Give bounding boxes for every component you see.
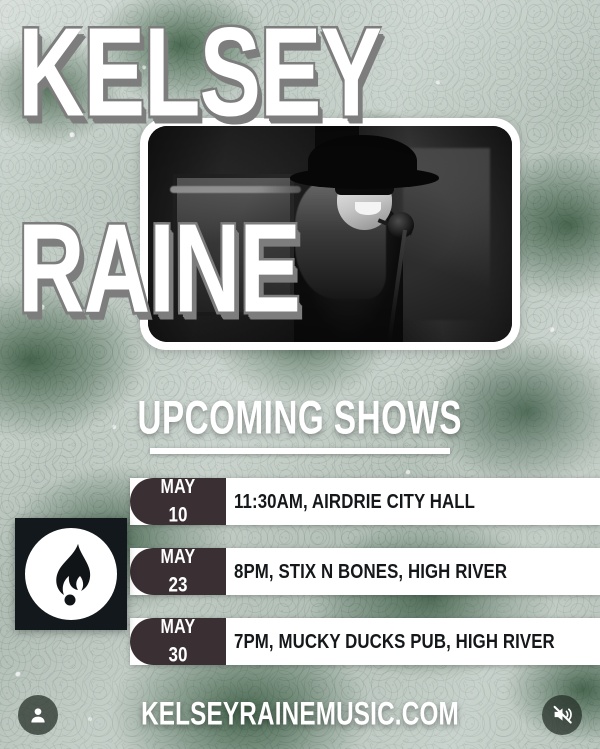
show-bar[interactable]: MAY 10 11:30AM, AIRDRIE CITY HALL [130,478,600,525]
date-day: 30 [169,644,188,665]
heading-underline [150,448,450,454]
date-day: 23 [169,574,188,595]
show-details: 8PM, STIX N BONES, HIGH RIVER [234,559,507,583]
profile-button[interactable] [18,695,58,735]
date-badge: MAY 23 [130,548,226,595]
show-bar[interactable]: MAY 30 7PM, MUCKY DUCKS PUB, HIGH RIVER [130,618,600,665]
bottom-bar: KELSEYRAINEMUSIC.COM [0,680,600,749]
date-badge: MAY 10 [130,478,226,525]
event-poster: KELSEY RAINE UPCOMING SHOWS MAY 10 11:30… [0,0,600,749]
website-url[interactable]: KELSEYRAINEMUSIC.COM [65,696,534,734]
show-details: 11:30AM, AIRDRIE CITY HALL [234,489,475,513]
date-day: 10 [169,504,188,525]
date-month: MAY [161,478,196,498]
flame-drop-icon [34,537,108,611]
date-month: MAY [161,618,196,638]
date-badge: MAY 30 [130,618,226,665]
section-heading: UPCOMING SHOWS [138,392,462,446]
logo-circle [25,528,117,620]
mute-button[interactable] [542,695,582,735]
date-month: MAY [161,548,196,568]
artist-name-line-2: RAINE [18,218,300,322]
person-icon [28,705,48,725]
mute-icon [552,704,573,725]
brand-logo-badge [15,518,127,630]
show-bar[interactable]: MAY 23 8PM, STIX N BONES, HIGH RIVER [130,548,600,595]
artist-name-line-1: KELSEY [18,22,381,126]
show-details: 7PM, MUCKY DUCKS PUB, HIGH RIVER [234,629,555,653]
upcoming-shows-header: UPCOMING SHOWS [0,392,600,454]
